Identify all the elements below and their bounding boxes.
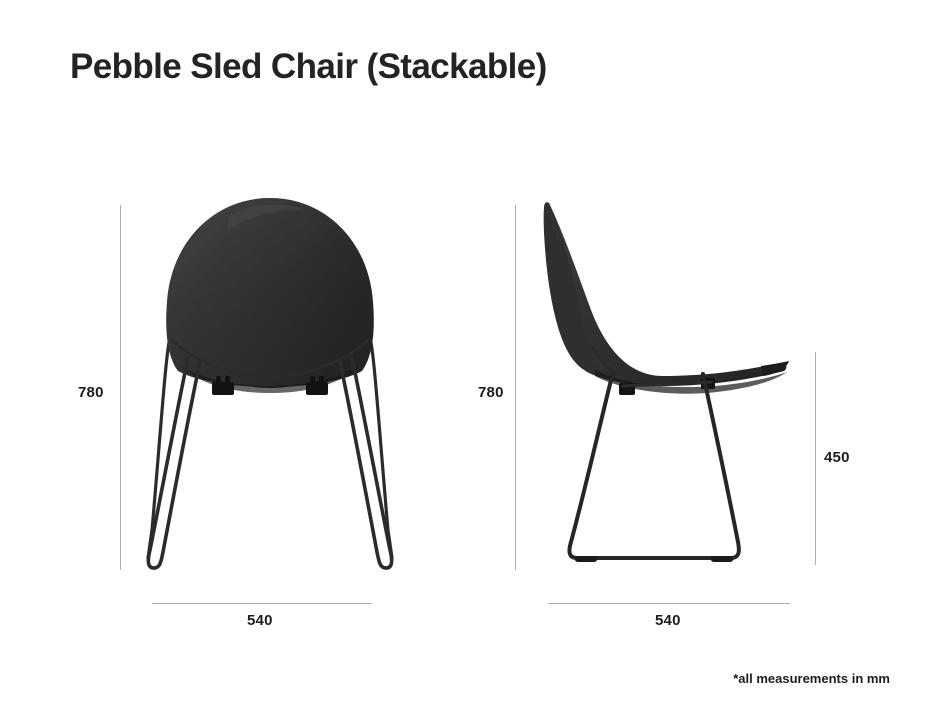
side-seat-height-dimension-line: [815, 352, 816, 565]
side-height-dimension-line: [515, 205, 516, 570]
side-width-dimension-label: 540: [655, 612, 681, 629]
side-view-illustration: [535, 190, 800, 580]
product-spec-sheet: Pebble Sled Chair (Stackable): [0, 0, 925, 713]
page-title: Pebble Sled Chair (Stackable): [70, 47, 547, 87]
front-view-illustration: [130, 190, 410, 580]
side-width-dimension-line: [548, 603, 790, 604]
side-sled-frame: [569, 372, 738, 558]
side-seat-height-dimension-label: 450: [824, 449, 850, 466]
measurement-unit-footnote: *all measurements in mm: [733, 671, 890, 686]
front-height-dimension-label: 780: [78, 384, 104, 401]
front-width-dimension-label: 540: [247, 612, 273, 629]
front-height-dimension-line: [120, 205, 121, 570]
front-view-chair-graphic: [130, 190, 410, 580]
side-view-chair-graphic: [535, 190, 800, 580]
side-height-dimension-label: 780: [478, 384, 504, 401]
front-width-dimension-line: [152, 603, 372, 604]
side-shell: [544, 202, 787, 386]
